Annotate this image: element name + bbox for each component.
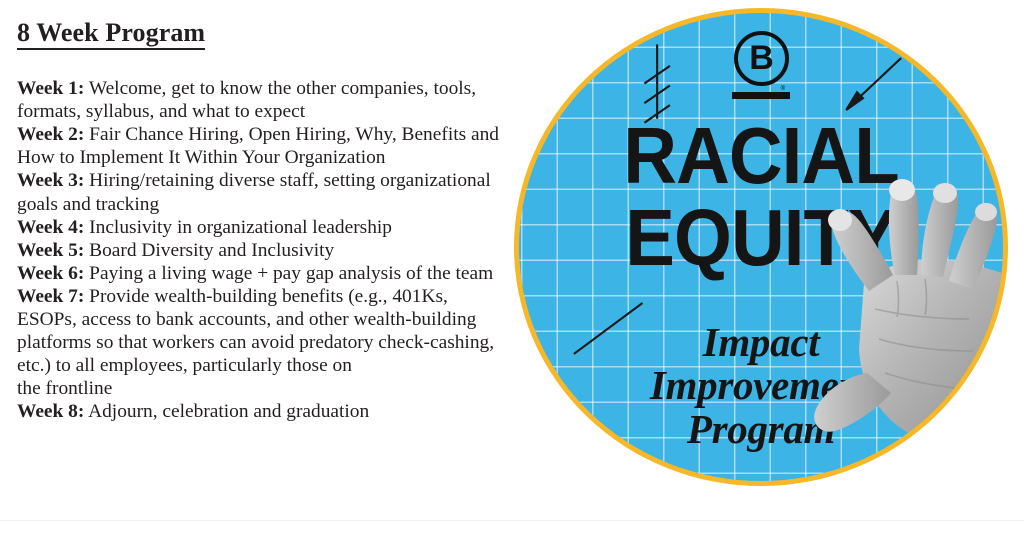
week-label: Week 4: xyxy=(17,217,84,238)
badge-headline: RACIAL EQUITY xyxy=(519,119,1003,276)
week-text: Provide wealth-building benefits (e.g., … xyxy=(17,286,476,330)
week-list: Week 1: Welcome, get to know the other c… xyxy=(17,77,507,423)
week-text: Adjourn, celebration and graduation xyxy=(84,401,369,422)
slide-canvas: 8 Week Program Week 1: Welcome, get to k… xyxy=(0,0,1024,535)
b-corp-letter: B xyxy=(749,41,773,75)
week-text: Paying a living wage + pay gap analysis … xyxy=(84,263,493,284)
week-label: Week 6: xyxy=(17,263,84,284)
list-item: Week 7: Provide wealth-building benefits… xyxy=(17,285,507,331)
b-corp-circle-icon: B xyxy=(734,31,789,86)
b-corp-underbar: ® xyxy=(732,92,790,99)
week-text: the frontline xyxy=(17,378,112,399)
week-text: Hiring/retaining diverse staff, setting … xyxy=(17,170,491,214)
week-label: Week 5: xyxy=(17,240,84,261)
week-text: platforms so that workers can avoid pred… xyxy=(17,332,494,376)
page-title: 8 Week Program xyxy=(17,18,205,50)
bottom-divider xyxy=(0,520,1024,521)
week-text: Fair Chance Hiring, Open Hiring, Why, Be… xyxy=(17,124,499,168)
list-item: Week 1: Welcome, get to know the other c… xyxy=(17,77,507,123)
racial-equity-badge: B ® RACIAL EQUITY Impact Improvement Pro… xyxy=(514,8,1008,486)
list-item: Week 2: Fair Chance Hiring, Open Hiring,… xyxy=(17,123,507,169)
badge-circle: B ® RACIAL EQUITY Impact Improvement Pro… xyxy=(514,8,1008,486)
week-text: Welcome, get to know the other companies… xyxy=(17,78,476,122)
list-item: Week 5: Board Diversity and Inclusivity xyxy=(17,239,507,262)
week-label: Week 3: xyxy=(17,170,84,191)
week-label: Week 2: xyxy=(17,124,84,145)
week-text: Inclusivity in organizational leadership xyxy=(84,217,392,238)
list-item: Week 3: Hiring/retaining diverse staff, … xyxy=(17,169,507,215)
arrow-down-left-icon xyxy=(846,58,901,110)
list-item: platforms so that workers can avoid pred… xyxy=(17,331,507,377)
badge-subhead: Impact Improvement Program xyxy=(519,321,1003,451)
subhead-line-3: Program xyxy=(519,408,1003,451)
program-text-column: 8 Week Program Week 1: Welcome, get to k… xyxy=(17,18,507,423)
headline-line-2: EQUITY xyxy=(536,201,986,275)
list-item: the frontline xyxy=(17,377,507,400)
subhead-line-1: Impact xyxy=(519,321,1003,364)
headline-line-1: RACIAL xyxy=(536,119,986,193)
week-label: Week 7: xyxy=(17,286,84,307)
registered-trademark-icon: ® xyxy=(781,86,785,92)
list-item: Week 4: Inclusivity in organizational le… xyxy=(17,216,507,239)
list-item: Week 6: Paying a living wage + pay gap a… xyxy=(17,262,507,285)
week-label: Week 1: xyxy=(17,78,84,99)
subhead-line-2: Improvement xyxy=(519,364,1003,407)
b-corp-certified-logo: B ® xyxy=(722,31,800,99)
list-item: Week 8: Adjourn, celebration and graduat… xyxy=(17,400,507,423)
week-text: Board Diversity and Inclusivity xyxy=(84,240,334,261)
week-label: Week 8: xyxy=(17,401,84,422)
